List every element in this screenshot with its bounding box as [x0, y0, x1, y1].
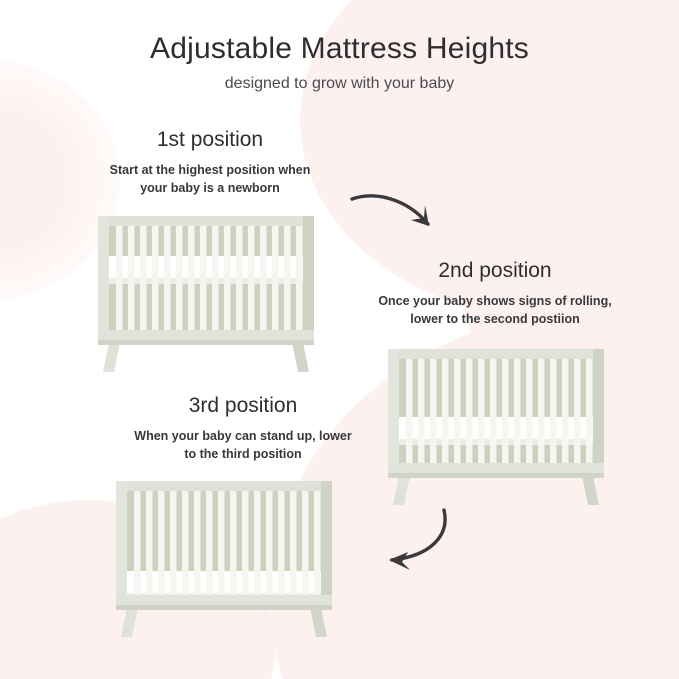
- step-1-description-line-2: your baby is a newborn: [140, 181, 280, 195]
- crib-image-position-2: [382, 343, 610, 511]
- step-1-description-line-1: Start at the highest position when: [110, 163, 311, 177]
- step-2-description: Once your baby shows signs of rolling, l…: [345, 292, 645, 328]
- step-3-text-block: 3rd position When your baby can stand up…: [93, 392, 393, 464]
- step-2-text-block: 2nd position Once your baby shows signs …: [345, 257, 645, 329]
- step-1-heading: 1st position: [60, 126, 360, 153]
- step-1-description: Start at the highest position when your …: [60, 161, 360, 197]
- step-3-heading: 3rd position: [93, 392, 393, 419]
- arrow-icon-step2-to-step3: [358, 498, 478, 574]
- page-subtitle: designed to grow with your baby: [0, 74, 679, 95]
- crib-image-position-3: [110, 475, 338, 643]
- arrow-icon-step1-to-step2: [344, 172, 464, 248]
- blob-right: [402, 0, 679, 679]
- step-1-text-block: 1st position Start at the highest positi…: [60, 126, 360, 198]
- header: Adjustable Mattress Heights designed to …: [0, 30, 679, 94]
- step-2-description-line-2: lower to the second postiion: [410, 312, 579, 326]
- step-2-description-line-1: Once your baby shows signs of rolling,: [378, 294, 611, 308]
- step-3-description: When your baby can stand up, lower to th…: [93, 427, 393, 463]
- step-3-description-line-2: to the third position: [184, 447, 301, 461]
- step-2-heading: 2nd position: [345, 257, 645, 284]
- infographic-canvas: Adjustable Mattress Heights designed to …: [0, 0, 679, 679]
- step-3-description-line-1: When your baby can stand up, lower: [134, 429, 351, 443]
- crib-image-position-1: [92, 210, 320, 378]
- page-title: Adjustable Mattress Heights: [0, 30, 679, 68]
